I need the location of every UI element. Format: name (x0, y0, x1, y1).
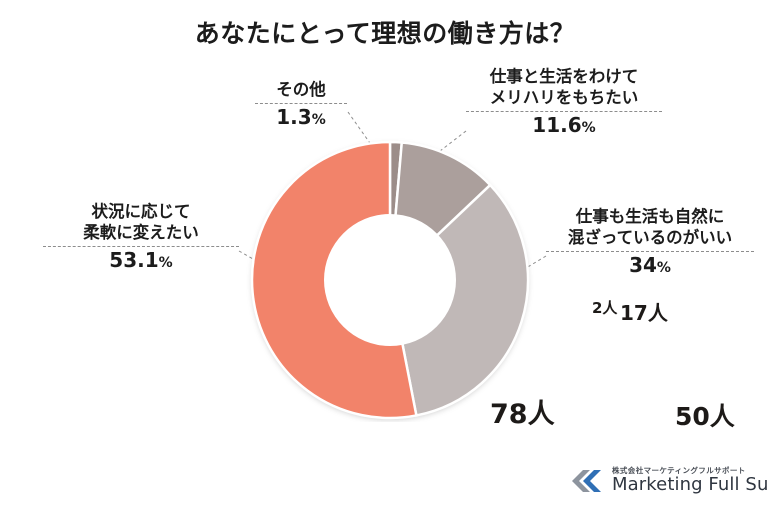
callout-split-line1: 仕事と生活をわけて (466, 66, 662, 87)
donut-hole (324, 214, 456, 346)
slice-value-flexible: 78人 (490, 401, 555, 428)
callout-flexible-line2: 柔軟に変えたい (43, 222, 239, 243)
callout-other-rule (255, 103, 347, 104)
callout-split: 仕事と生活をわけて メリハリをもちたい 11.6% (466, 66, 662, 137)
page-title: あなたにとって理想の働き方は？ (0, 14, 770, 50)
callout-other-line1: その他 (246, 79, 356, 100)
callout-flexible-line1: 状況に応じて (43, 201, 239, 222)
logo-company-en: Marketing Full Support (612, 474, 770, 495)
callout-blend-line1: 仕事も生活も自然に (546, 206, 754, 227)
callout-flexible: 状況に応じて 柔軟に変えたい 53.1% (43, 201, 239, 272)
callout-other-percent: 1.3% (246, 106, 356, 128)
callout-flexible-rule (43, 246, 239, 247)
callout-blend-rule (546, 251, 754, 252)
callout-flexible-percent: 53.1% (43, 249, 239, 271)
slice-value-other: 2人 (592, 301, 617, 316)
company-logo: 株式会社マーケティングフルサポート Marketing Full Support (570, 463, 760, 499)
callout-blend-percent: 34% (546, 254, 754, 276)
callout-split-line2: メリハリをもちたい (466, 87, 662, 108)
callout-split-percent: 11.6% (466, 114, 662, 136)
chart-canvas: あなたにとって理想の働き方は？ 78人 50人 17人 2人 (0, 0, 770, 505)
donut-chart: 78人 50人 17人 2人 (228, 138, 552, 422)
slice-value-split: 17人 (620, 303, 668, 323)
callout-other: その他 1.3% (246, 79, 356, 129)
logo-chevron-icon (570, 467, 604, 493)
donut-svg (228, 138, 552, 422)
callout-blend: 仕事も生活も自然に 混ざっているのがいい 34% (546, 206, 754, 277)
slice-value-blend: 50人 (675, 404, 735, 429)
callout-blend-line2: 混ざっているのがいい (546, 227, 754, 248)
callout-split-rule (466, 111, 662, 112)
